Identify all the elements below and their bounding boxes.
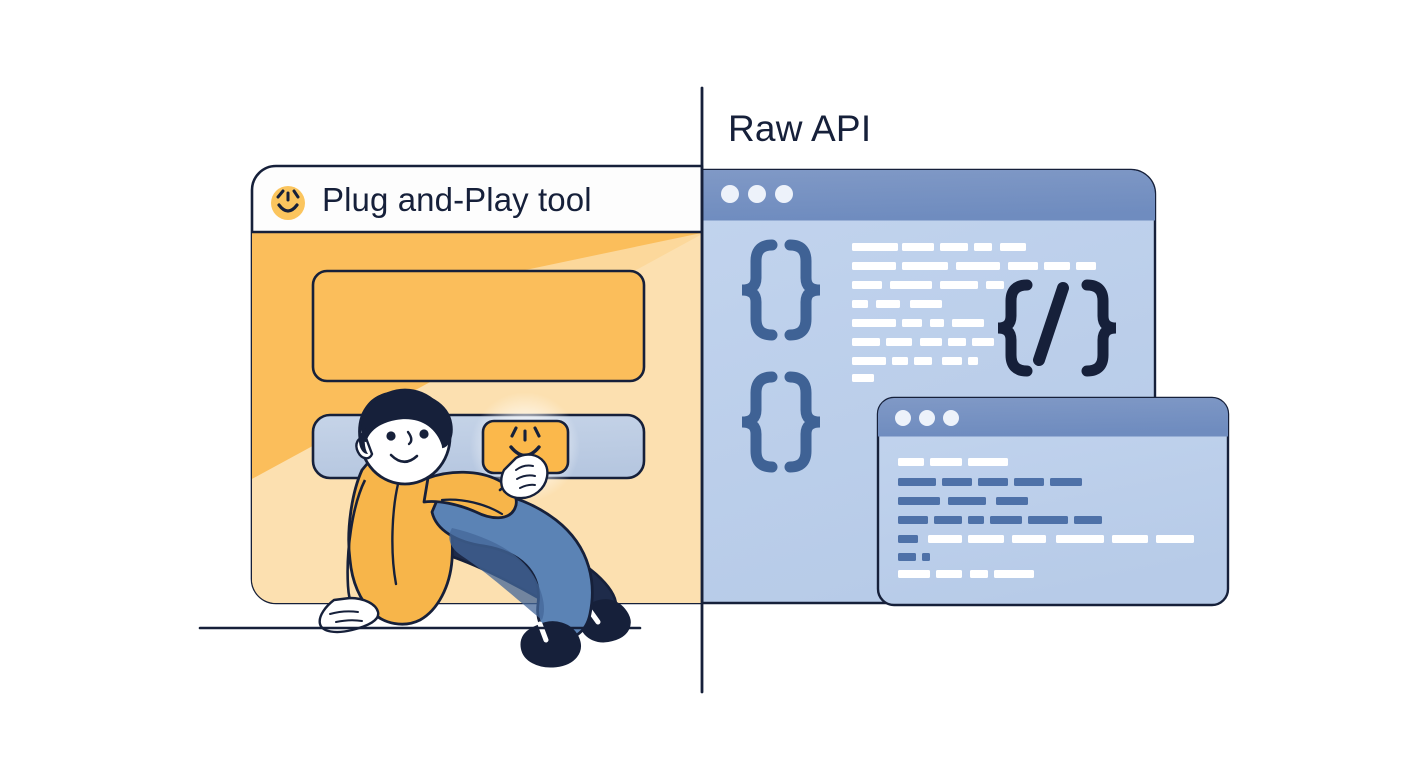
code-line-segment <box>968 357 978 365</box>
code-line-segment <box>922 553 930 561</box>
code-line-segment <box>1014 478 1044 486</box>
code-line-segment <box>940 243 968 251</box>
code-line-segment <box>920 338 942 346</box>
code-line-segment <box>898 535 918 543</box>
code-line-segment <box>956 262 1000 270</box>
code-line-segment <box>936 570 962 578</box>
code-line-segment <box>948 497 986 505</box>
code-line-segment <box>970 570 988 578</box>
code-line-segment <box>948 338 966 346</box>
smiley-icon <box>271 186 305 220</box>
code-line-segment <box>930 319 944 327</box>
code-line-segment <box>852 374 874 382</box>
code-line-segment <box>952 319 984 327</box>
scene-svg <box>0 0 1408 768</box>
window-dots <box>895 410 959 426</box>
code-line-segment <box>898 497 940 505</box>
code-line-segment <box>1044 262 1070 270</box>
code-line-segment <box>852 262 896 270</box>
code-line-segment <box>978 478 1008 486</box>
code-line-segment <box>968 458 1008 466</box>
code-line-segment <box>902 243 934 251</box>
code-line-segment <box>994 570 1034 578</box>
code-line-segment <box>974 243 992 251</box>
code-line-segment <box>852 319 896 327</box>
api-code-window-front[interactable] <box>878 398 1228 605</box>
code-line-segment <box>986 281 1004 289</box>
code-line-segment <box>852 300 868 308</box>
code-line-segment <box>934 516 962 524</box>
code-line-segment <box>898 570 930 578</box>
code-line-segment <box>852 243 898 251</box>
code-line-segment <box>1012 535 1046 543</box>
code-line-segment <box>898 458 924 466</box>
code-line-segment <box>902 319 922 327</box>
code-line-segment <box>892 357 908 365</box>
code-line-segment <box>1050 478 1082 486</box>
code-line-segment <box>930 458 962 466</box>
code-line-segment <box>1028 516 1068 524</box>
code-line-segment <box>1008 262 1038 270</box>
code-line-segment <box>1076 262 1096 270</box>
code-line-segment <box>852 357 886 365</box>
code-line-segment <box>968 535 1004 543</box>
code-line-segment <box>942 357 962 365</box>
plug-and-play-title: Plug and-Play tool <box>322 181 592 219</box>
code-line-segment <box>940 281 978 289</box>
code-line-segment <box>968 516 984 524</box>
code-line-segment <box>1074 516 1102 524</box>
code-line-segment <box>1056 535 1104 543</box>
code-line-segment <box>942 478 972 486</box>
code-line-segment <box>886 338 912 346</box>
illustration-stage: Raw API Plug and-Play tool <box>0 0 1408 768</box>
code-line-segment <box>890 281 932 289</box>
code-line-segment <box>876 300 900 308</box>
code-line-segment <box>996 497 1028 505</box>
code-line-segment <box>902 262 948 270</box>
code-line-segment <box>1156 535 1194 543</box>
raw-api-title: Raw API <box>728 108 871 150</box>
window-dots <box>721 185 793 203</box>
code-line-segment <box>990 516 1022 524</box>
code-line-segment <box>928 535 962 543</box>
code-line-segment <box>898 478 936 486</box>
code-line-segment <box>898 553 916 561</box>
code-line-segment <box>898 516 928 524</box>
code-line-segment <box>852 338 880 346</box>
code-line-segment <box>914 357 932 365</box>
code-line-segment <box>1000 243 1026 251</box>
code-line-segment <box>972 338 994 346</box>
content-placeholder-card[interactable] <box>313 271 644 381</box>
code-line-segment <box>1112 535 1148 543</box>
code-line-segment <box>852 281 882 289</box>
code-line-segment <box>910 300 942 308</box>
